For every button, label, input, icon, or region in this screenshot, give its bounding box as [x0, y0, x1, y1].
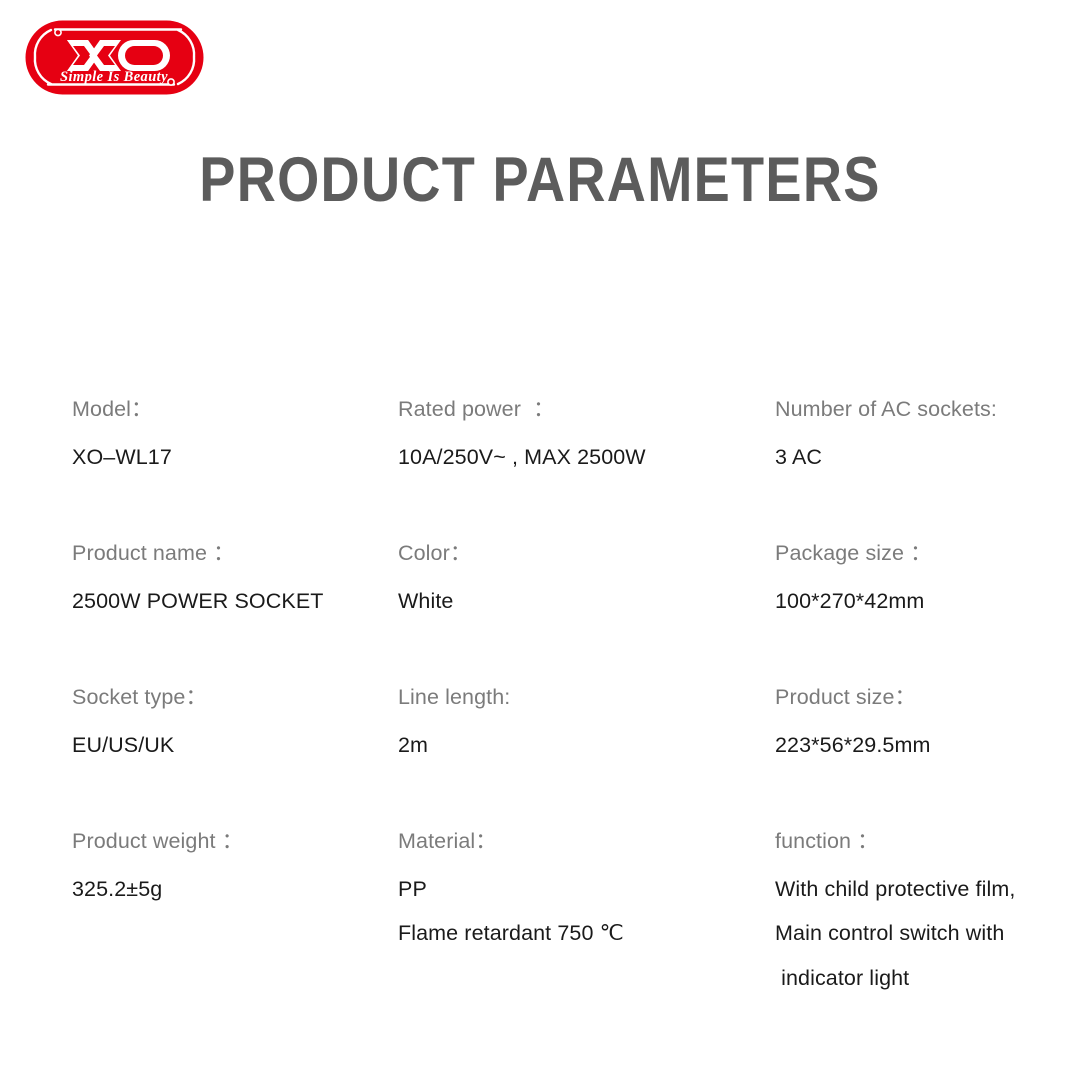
spec-label-rated-power: Rated power ：: [398, 399, 775, 421]
spec-value-color: White: [398, 591, 775, 613]
spec-value-socket-type: EU/US/UK: [72, 735, 398, 757]
spec-value-product-name: 2500W POWER SOCKET: [72, 591, 398, 613]
spec-color: Color： White: [398, 543, 775, 687]
spec-value-function: With child protective film,Main control …: [775, 879, 1075, 990]
spec-package-size: Package size ： 100*270*42mm: [775, 543, 1075, 687]
spec-product-weight: Product weight ： 325.2±5g: [72, 831, 398, 975]
spec-model: Model： XO–WL17: [72, 399, 398, 543]
spec-value-product-size: 223*56*29.5mm: [775, 735, 1075, 757]
spec-label-number-of-ac-sockets: Number of AC sockets:: [775, 399, 1075, 421]
spec-value-number-of-ac-sockets: 3 AC: [775, 447, 1075, 469]
spec-number-of-ac-sockets: Number of AC sockets: 3 AC: [775, 399, 1075, 543]
spec-value-line: indicator light: [775, 968, 1075, 990]
spec-rated-power: Rated power ： 10A/250V~ , MAX 2500W: [398, 399, 775, 543]
spec-value-line: Main control switch with: [775, 923, 1075, 945]
spec-label-socket-type: Socket type：: [72, 687, 398, 709]
logo-dot-topleft: [55, 29, 61, 35]
spec-label-package-size: Package size ：: [775, 543, 1075, 565]
spec-value-line: PP: [398, 879, 775, 901]
spec-label-product-name: Product name ：: [72, 543, 398, 565]
logo-letter-o: [118, 40, 170, 71]
spec-value-line-length: 2m: [398, 735, 775, 757]
spec-line-length: Line length: 2m: [398, 687, 775, 831]
spec-value-rated-power: 10A/250V~ , MAX 2500W: [398, 447, 775, 469]
spec-label-line-length: Line length:: [398, 687, 775, 709]
xo-logo: Simple Is Beauty: [24, 19, 205, 96]
spec-label-color: Color：: [398, 543, 775, 565]
spec-product-name: Product name ： 2500W POWER SOCKET: [72, 543, 398, 687]
spec-value-line: With child protective film,: [775, 879, 1075, 901]
spec-label-model: Model：: [72, 399, 398, 421]
spec-label-product-weight: Product weight ：: [72, 831, 398, 853]
spec-function: function ： With child protective film,Ma…: [775, 831, 1075, 975]
spec-material: Material： PPFlame retardant 750 ℃: [398, 831, 775, 975]
spec-value-product-weight: 325.2±5g: [72, 879, 398, 901]
product-parameters-grid: Model： XO–WL17 Rated power ： 10A/250V~ ,…: [72, 399, 1032, 975]
spec-value-line: Flame retardant 750 ℃: [398, 923, 775, 945]
spec-socket-type: Socket type： EU/US/UK: [72, 687, 398, 831]
spec-value-material: PPFlame retardant 750 ℃: [398, 879, 775, 945]
logo-tagline: Simple Is Beauty: [60, 69, 168, 85]
spec-value-package-size: 100*270*42mm: [775, 591, 1075, 613]
spec-label-material: Material：: [398, 831, 775, 853]
spec-product-size: Product size： 223*56*29.5mm: [775, 687, 1075, 831]
logo-dot-bottomright: [168, 79, 174, 85]
spec-label-function: function ：: [775, 831, 1075, 853]
page-title: PRODUCT PARAMETERS: [76, 147, 1005, 213]
spec-value-model: XO–WL17: [72, 447, 398, 469]
spec-label-product-size: Product size：: [775, 687, 1075, 709]
